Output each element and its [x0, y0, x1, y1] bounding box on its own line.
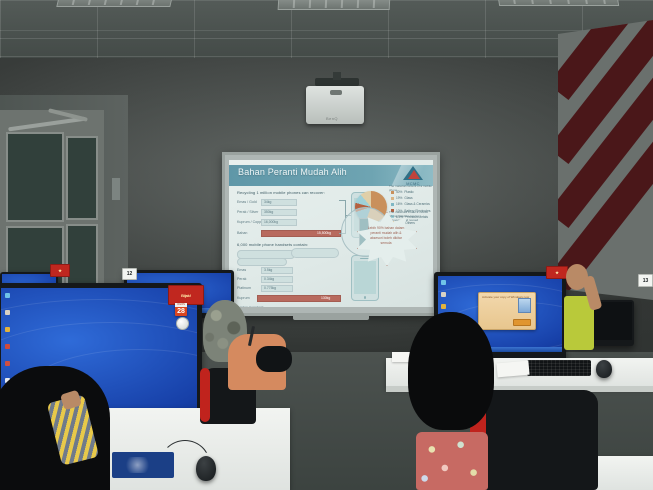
ceiling	[0, 0, 653, 62]
red-sticker-back-right: ★	[546, 266, 568, 279]
row2-label: Perak / Silver	[237, 210, 258, 214]
row8-label: Kuprum	[237, 296, 250, 300]
ceiling-light-center	[278, 0, 391, 10]
desktop-icon-my-computer[interactable]	[5, 310, 10, 315]
monitor-number-label: 12	[127, 271, 133, 277]
desktop-icon-media-player[interactable]	[5, 361, 10, 366]
section2-pill-b	[291, 248, 339, 258]
ceiling-light-left	[56, 0, 173, 7]
desktop-icon-folder-right[interactable]	[441, 304, 446, 309]
desktop-icon-browser[interactable]	[5, 344, 10, 349]
legend-item: 16%Glass & Ceramics	[391, 202, 430, 206]
projector-brand-label: BenQ	[326, 116, 338, 121]
monitor-number-tag-12: 12	[122, 268, 137, 280]
student-right-hijab	[408, 312, 494, 430]
desktop-icon-recycle-bin-right[interactable]	[441, 280, 446, 285]
row6-label: Perak	[237, 277, 246, 281]
dialog-icon	[518, 298, 531, 313]
slide-title: Bahan Peranti Mudah Alih	[238, 167, 347, 177]
section2-footnote: Sumber: Comeback	[237, 305, 264, 307]
legend-item: 19%Glass	[391, 196, 430, 200]
presentation-slide: Bahan Peranti Mudah Alih MCMC Recycling …	[229, 160, 433, 307]
row1-value: 34kg	[264, 200, 271, 204]
row5-label: Emas	[237, 268, 246, 272]
calendar-sticker: OGOS 28	[175, 303, 187, 316]
legend-item: 40%Plastic	[391, 190, 430, 194]
student-middle-shoulder	[256, 346, 292, 372]
row7-label: Platinum	[237, 286, 251, 290]
callout-note: The materials inside a mobile phone hand…	[389, 210, 431, 222]
row4-label: Bahan	[237, 231, 247, 235]
mcmc-logo: MCMC	[400, 166, 426, 186]
calendar-day: 28	[175, 307, 187, 316]
projector-lens	[330, 90, 342, 95]
slide-section2-heading: 6,000 mobile phone handsets contain:	[237, 242, 308, 247]
projector-mount-pole	[333, 72, 341, 80]
dialog-activate-button[interactable]	[513, 319, 531, 326]
badminton-shuttle-sticker	[176, 317, 189, 330]
starburst-text: Lebih 90% bahan dalam peranti mudah alih…	[365, 226, 407, 246]
keyboard-right[interactable]	[527, 360, 591, 376]
bijak-sticker-text: Bijak!	[181, 293, 191, 298]
logo-triangle-inner	[408, 170, 420, 179]
row3-value: 16,000kg	[264, 220, 278, 224]
classroom-photo: BenQ Bahan Peranti Mudah Alih MCMC Recyc…	[0, 0, 653, 490]
row4-value: 15,500kg	[317, 231, 331, 235]
monitor-number-label-13: 13	[643, 278, 649, 284]
row6-value: 0.34kg	[264, 277, 274, 281]
windows-activation-dialog[interactable]: Activate your copy of Windows now	[478, 292, 536, 330]
desktop-icon-recycle-bin[interactable]	[5, 293, 10, 298]
row7-value: 0.775kg	[264, 286, 276, 290]
paper-sheet-right	[496, 361, 529, 378]
legend-label: Plastic	[404, 190, 413, 194]
light-switch-plate[interactable]	[112, 178, 120, 200]
legend-label: Glass & Ceramics	[404, 202, 430, 206]
row2-value: 350kg	[264, 210, 273, 214]
section2-pill-c	[237, 258, 287, 266]
row5-value: 3.5kg	[264, 268, 272, 272]
legend-percent: 16%	[396, 202, 402, 206]
row8-value: 130kg	[321, 296, 330, 300]
bijak-banner-sticker: Bijak!	[168, 285, 204, 305]
legend-percent: 40%	[396, 190, 402, 194]
screen-surface: Bahan Peranti Mudah Alih MCMC Recycling …	[229, 160, 433, 307]
slide-section1-heading: Recycling 1 million mobile phones can re…	[237, 190, 325, 195]
ceiling-light-right	[497, 0, 619, 6]
desktop-icon-computer-right[interactable]	[441, 292, 446, 297]
red-sticker-back-left: ★	[50, 264, 70, 277]
student-right-floral-top	[416, 432, 488, 490]
legend-label: Glass	[404, 196, 412, 200]
desktop-icon-folder[interactable]	[5, 327, 10, 332]
marker-tray	[293, 315, 369, 320]
ceiling-projector: BenQ	[306, 86, 364, 124]
projection-screen: Bahan Peranti Mudah Alih MCMC Recycling …	[222, 152, 440, 316]
monitor-number-tag-13: 13	[638, 274, 653, 287]
legend-percent: 19%	[396, 196, 402, 200]
computer-mouse-right[interactable]	[596, 360, 612, 378]
row1-label: Emas / Gold	[237, 200, 257, 204]
chair-middle-rim	[200, 368, 210, 422]
right-wall-accent	[558, 20, 653, 300]
phone-illustration-bottom	[351, 255, 379, 301]
